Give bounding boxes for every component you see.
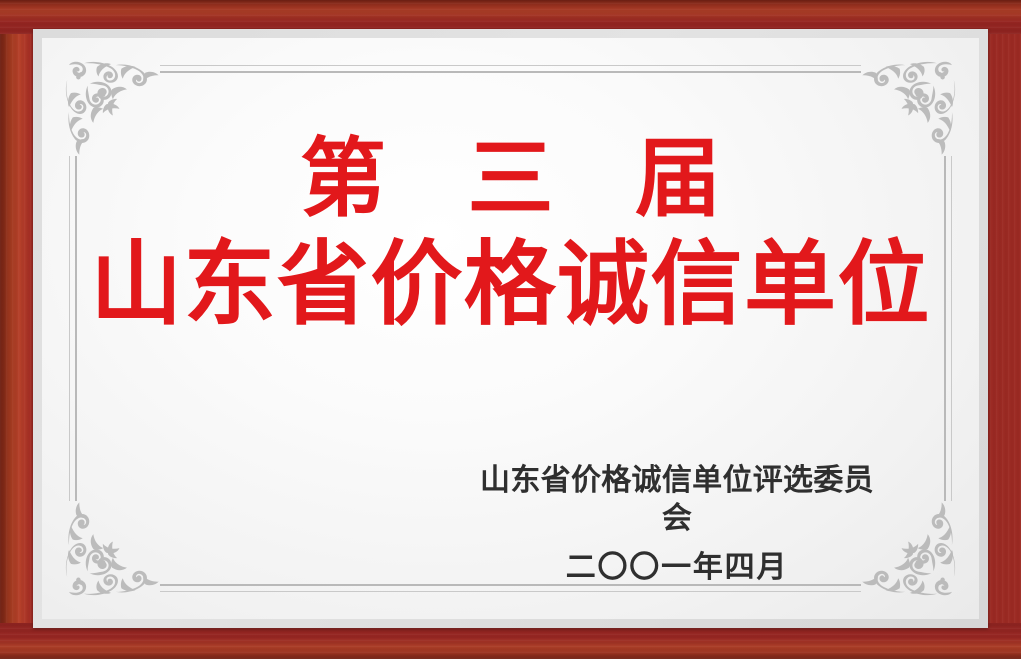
award-title-line: 山东省价格诚信单位 (42, 234, 979, 335)
certificate-content: 第 三 届 山东省价格诚信单位 山东省价格诚信单位评选委员会 二〇〇一年四月 (42, 38, 979, 619)
wooden-frame-bottom-band (0, 623, 1021, 659)
issue-date: 二〇〇一年四月 (467, 549, 887, 587)
award-plaque: 第 三 届 山东省价格诚信单位 山东省价格诚信单位评选委员会 二〇〇一年四月 (0, 0, 1021, 659)
signature-block: 山东省价格诚信单位评选委员会 二〇〇一年四月 (467, 462, 887, 587)
issuing-organization: 山东省价格诚信单位评选委员会 (467, 462, 887, 537)
title-block: 第 三 届 山东省价格诚信单位 (42, 134, 979, 335)
certificate-panel: 第 三 届 山东省价格诚信单位 山东省价格诚信单位评选委员会 二〇〇一年四月 (42, 38, 979, 619)
award-edition-line: 第 三 届 (42, 134, 979, 224)
frame-mat: 第 三 届 山东省价格诚信单位 山东省价格诚信单位评选委员会 二〇〇一年四月 (33, 29, 988, 628)
